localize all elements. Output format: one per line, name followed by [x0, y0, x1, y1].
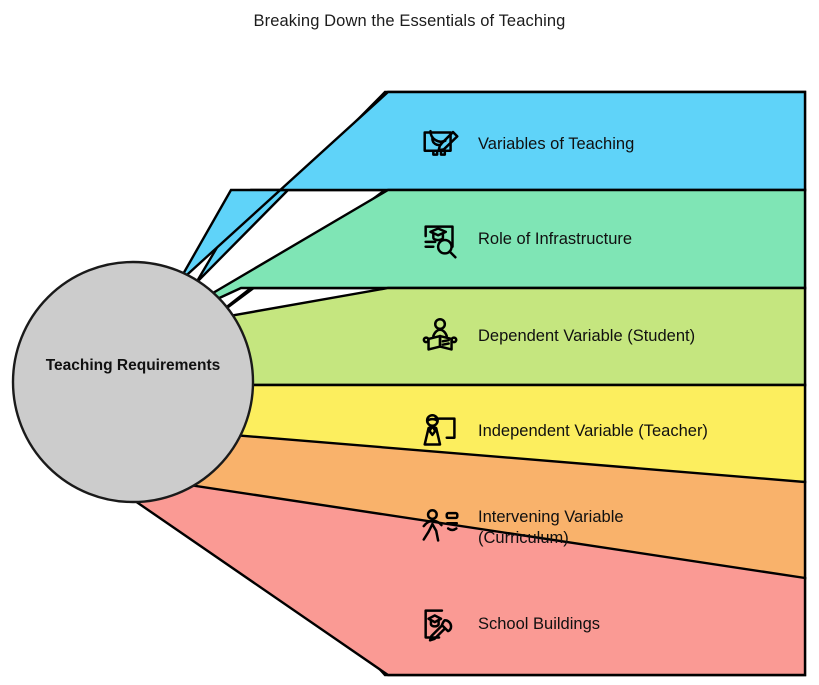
hub-circle[interactable] [13, 262, 253, 502]
diagram-canvas [0, 0, 819, 685]
funnel-diagram: Breaking Down the Essentials of Teaching… [0, 0, 819, 685]
hub-label: Teaching Requirements [33, 355, 233, 377]
